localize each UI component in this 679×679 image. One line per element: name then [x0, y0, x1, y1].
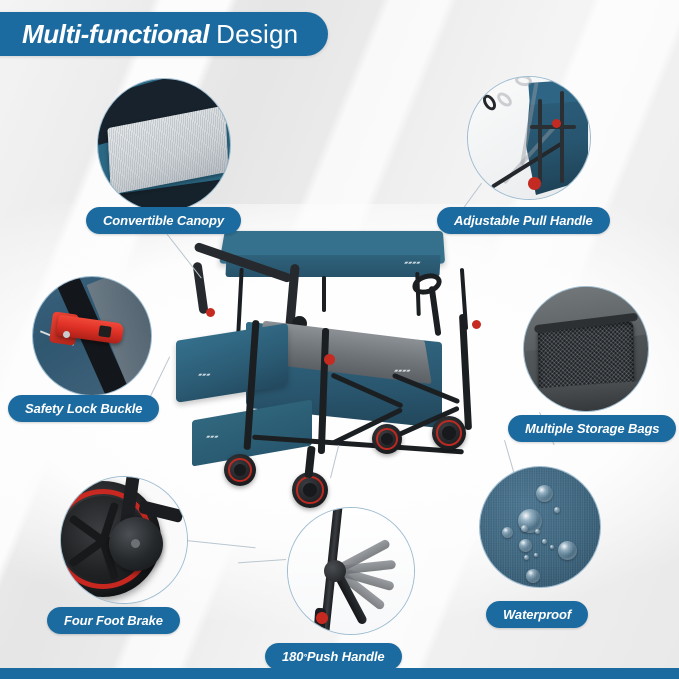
water-droplet [502, 527, 513, 538]
feature-inset-multiple-storage-bags [523, 286, 649, 412]
wagon-frame-release-knob [324, 354, 335, 365]
feature-inset-push-handle [287, 507, 415, 635]
wagon-canopy-pole-front-left [236, 268, 243, 334]
brand-logo-canopy: ▰▰▰▰ [404, 260, 420, 266]
handle-inset-frame-upright-a [538, 99, 542, 183]
water-droplet [524, 555, 529, 560]
water-droplet [526, 569, 540, 583]
page-title-strong: Multi-functional [22, 19, 209, 50]
wagon-wheel-rear-left [372, 424, 402, 454]
feature-inset-four-foot-brake [60, 476, 188, 604]
water-droplet [534, 553, 538, 557]
wagon-push-bar-adjust-knob [206, 308, 215, 317]
water-droplet [558, 541, 577, 560]
push-handle-pivot [324, 560, 346, 582]
push-handle-red-clip [316, 612, 328, 624]
water-droplet [554, 507, 560, 513]
storage-mesh-pocket [538, 321, 635, 392]
water-droplet [519, 539, 532, 552]
feature-label-four-foot-brake[interactable]: Four Foot Brake [47, 607, 180, 634]
wagon-pull-handle-knob [472, 320, 481, 329]
handle-inset-frame-upright-b [560, 91, 564, 183]
wagon-wheel-front-left [224, 454, 256, 486]
feature-label-adjustable-pull-handle[interactable]: Adjustable Pull Handle [437, 207, 610, 234]
wagon-wheel-rear-right [432, 416, 466, 450]
wagon-canopy-pole-front-right [322, 276, 326, 312]
wagon-frame-upright-rear [459, 314, 472, 430]
safety-lock-buckle-pin [63, 331, 70, 338]
handle-inset-red-wheel-accent [528, 177, 541, 190]
feature-inset-adjustable-pull-handle [467, 76, 591, 200]
water-droplet [521, 525, 528, 532]
feature-inset-safety-lock-buckle [32, 276, 152, 396]
page-title: Multi-functional Design [0, 12, 328, 56]
brake-hub-center [131, 539, 140, 548]
footer-bar [0, 668, 679, 679]
page-title-light: Design [216, 19, 298, 50]
feature-inset-convertible-canopy [97, 78, 231, 212]
infographic-canvas: Multi-functional Design [0, 0, 679, 679]
water-droplet [542, 539, 547, 544]
feature-label-safety-lock-buckle[interactable]: Safety Lock Buckle [8, 395, 159, 422]
product-illustration-folding-wagon: ▰▰▰▰ ▰▰▰▰ ▰▰▰ ▰▰▰ [176, 228, 506, 518]
push-handle-label-text: Push Handle [307, 649, 385, 664]
feature-label-waterproof[interactable]: Waterproof [486, 601, 588, 628]
water-droplet [550, 545, 554, 549]
brand-logo-basket: ▰▰▰ [198, 372, 210, 378]
feature-label-multiple-storage-bags[interactable]: Multiple Storage Bags [508, 415, 676, 442]
handle-inset-red-knob [552, 119, 561, 128]
water-droplet [536, 485, 553, 502]
feature-label-convertible-canopy[interactable]: Convertible Canopy [86, 207, 241, 234]
push-handle-label-number: 180 [282, 649, 303, 664]
safety-lock-buckle-window [98, 325, 111, 338]
water-droplet [535, 529, 540, 534]
brand-logo-shelf: ▰▰▰ [206, 434, 218, 440]
feature-label-push-handle[interactable]: 180° Push Handle [265, 643, 402, 670]
feature-inset-waterproof [479, 466, 601, 588]
